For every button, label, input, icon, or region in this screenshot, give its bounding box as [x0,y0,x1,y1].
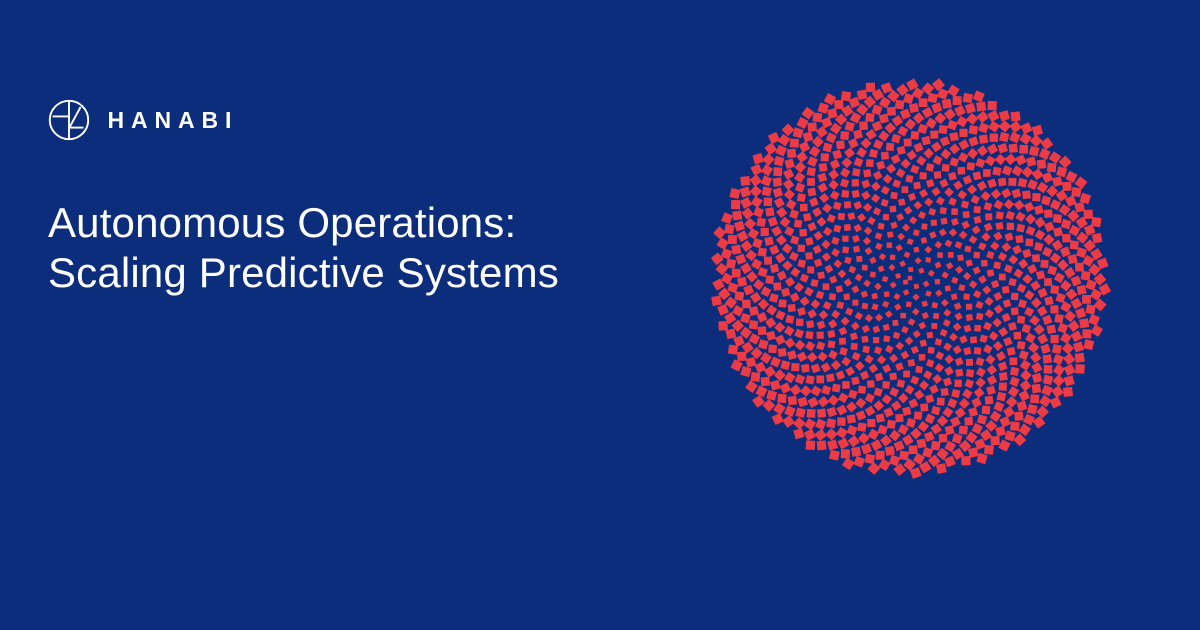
headline-line-2: Scaling Predictive Systems [48,248,688,298]
phyllotaxis-spiral-graphic [705,73,1115,483]
og-card: HANABI Autonomous Operations: Scaling Pr… [0,0,1200,630]
headline-line-1: Autonomous Operations: [48,198,688,248]
brand-wordmark: HANABI [107,109,238,132]
headline: Autonomous Operations: Scaling Predictiv… [48,198,688,298]
brand-lockup: HANABI [48,98,238,142]
hanabi-circle-monogram-icon [48,99,90,141]
